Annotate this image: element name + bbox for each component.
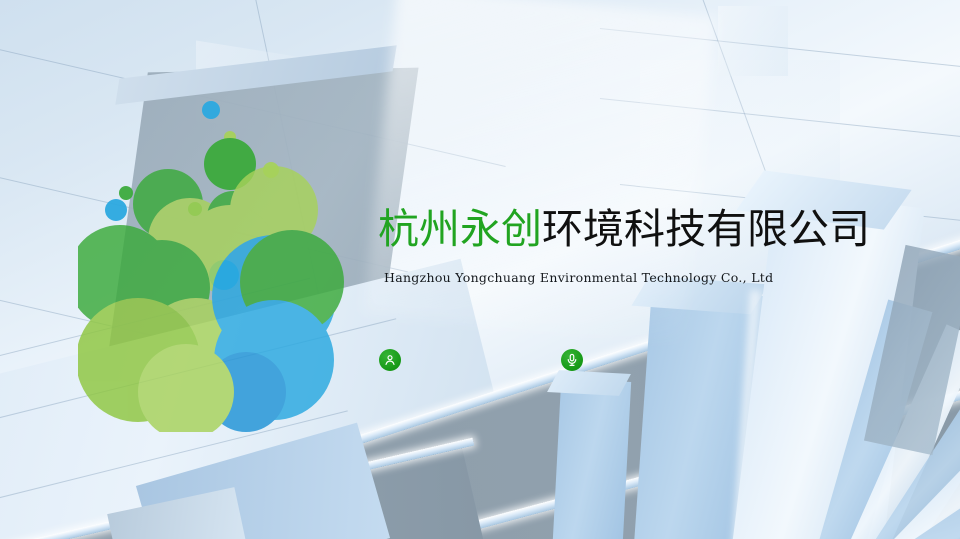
logo-bubble-blue [202,101,220,119]
user-icon[interactable] [379,349,401,371]
subtitle: Hangzhou Yongchuang Environmental Techno… [384,270,938,285]
tower [551,378,631,539]
page-title: 杭州永创环境科技有限公司 [378,202,938,256]
logo-bubbles-svg [78,92,348,432]
logo-bubble-blue [105,199,127,221]
light-wash [364,0,717,346]
logo-bubble-green [119,186,133,200]
title-slide: 杭州永创环境科技有限公司 Hangzhou Yongchuang Environ… [0,0,960,539]
microphone-glyph [565,353,579,367]
title-rest: 环境科技有限公司 [542,205,870,253]
microphone-icon[interactable] [561,349,583,371]
title-block: 杭州永创环境科技有限公司 Hangzhou Yongchuang Environ… [378,202,938,285]
company-logo [78,92,348,432]
title-highlight: 杭州永创 [378,205,542,253]
user-glyph [383,353,397,367]
tower-top-face [547,370,631,396]
